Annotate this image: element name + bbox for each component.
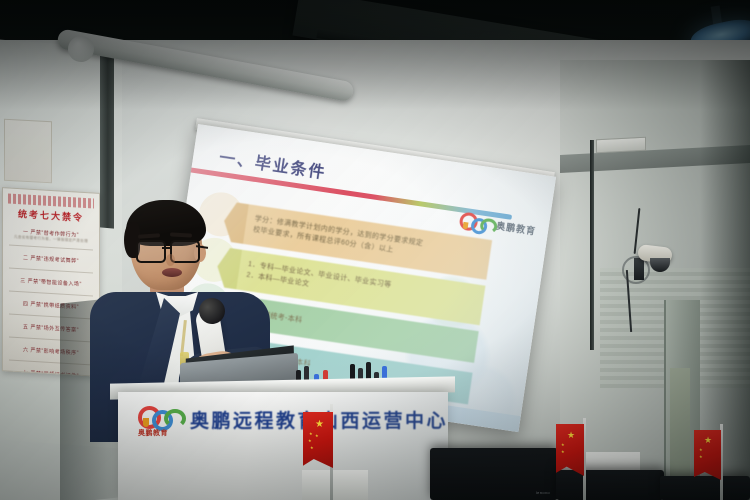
- wall-poster-small: [4, 119, 52, 184]
- open-logo-icon: [459, 211, 495, 233]
- chinese-flag: ★ ★ ★: [694, 430, 721, 480]
- monitor-brand-label: lenovo: [536, 490, 550, 495]
- poster-rule-heading: 三 严禁"带智能设备入场": [9, 276, 93, 288]
- screen-edge-pole: [590, 140, 594, 350]
- surveillance-camera: [626, 240, 686, 290]
- slide-logo-label: 奥鹏教育: [495, 219, 536, 238]
- podium-shading: [118, 392, 448, 500]
- poster-rule-heading: 二 严禁"违规考试舞弊": [9, 253, 93, 265]
- lecture-hall-photo: 一、毕业条件 奥鹏教育 学分：修满教学计划内的学分，达到的学分要求规定校毕业要求…: [0, 0, 750, 500]
- chinese-flag: ★ ★ ★: [556, 424, 584, 476]
- camera-mount-bracket: [634, 258, 644, 280]
- foreground-monitor: [556, 470, 664, 500]
- monitor-back-panel: [302, 470, 368, 500]
- chinese-flag: ★ ★ ★ ★ ★: [303, 412, 333, 468]
- presenter-mouth: [162, 268, 182, 277]
- foreground-monitor: lenovo: [430, 448, 558, 500]
- camera-dome-lens: [650, 258, 670, 272]
- wall-mounted-box: [596, 137, 646, 154]
- foreground-monitor: [660, 476, 750, 500]
- presenter-nose: [166, 254, 175, 266]
